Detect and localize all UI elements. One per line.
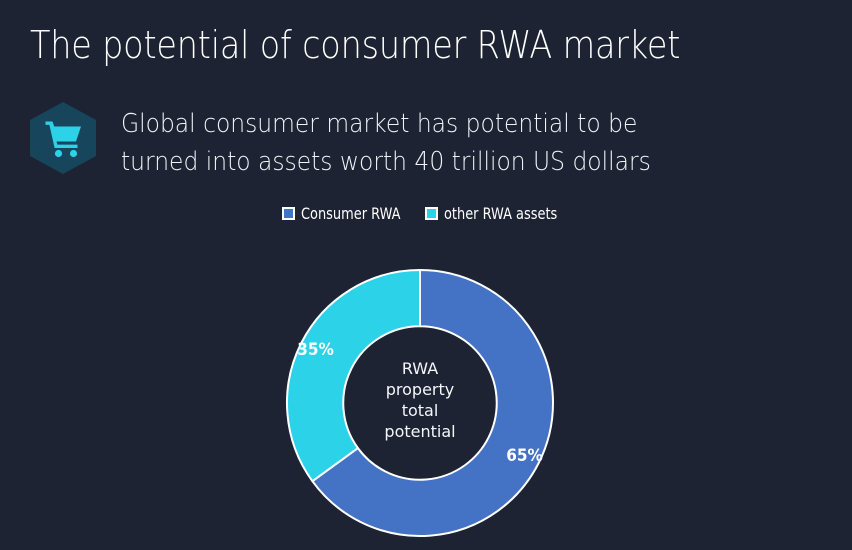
donut-value-label-other-rwa-assets: 35% <box>297 340 334 360</box>
donut-value-label-consumer-rwa: 65% <box>506 446 543 466</box>
subtitle: Global consumer market has potential to … <box>121 106 751 181</box>
center-text-line-2: property <box>386 380 455 399</box>
center-text-line-4: potential <box>384 422 455 441</box>
legend-item-consumer-rwa[interactable]: Consumer RWA <box>282 204 412 223</box>
page-title: The potential of consumer RWA market <box>30 24 734 68</box>
slide-canvas: The potential of consumer RWA market Glo… <box>0 0 852 550</box>
donut-slice-other-rwa-assets[interactable] <box>287 270 420 481</box>
donut-chart[interactable]: 65% 35% RWA property total potential <box>286 269 554 537</box>
subtitle-line-2: turned into assets worth 40 trillion US … <box>121 144 751 182</box>
donut-center-text: RWA property total potential <box>384 359 455 441</box>
center-text-line-3: total <box>402 401 439 420</box>
subtitle-line-1: Global consumer market has potential to … <box>121 106 751 144</box>
legend-swatch-other-rwa-assets <box>425 207 438 220</box>
center-text-line-1: RWA <box>402 359 438 378</box>
legend-label-other-rwa-assets: other RWA assets <box>444 204 557 223</box>
chart-legend: Consumer RWA other RWA assets <box>0 204 852 223</box>
legend-item-other-rwa-assets[interactable]: other RWA assets <box>425 204 570 223</box>
shopping-cart-icon <box>26 100 100 176</box>
legend-label-consumer-rwa: Consumer RWA <box>301 204 400 223</box>
legend-swatch-consumer-rwa <box>282 207 295 220</box>
